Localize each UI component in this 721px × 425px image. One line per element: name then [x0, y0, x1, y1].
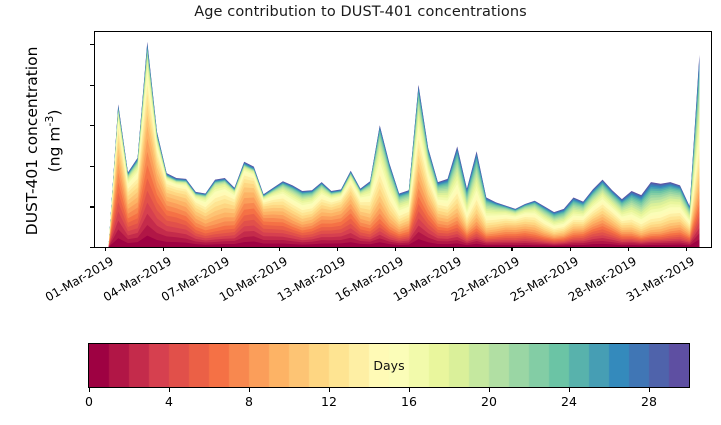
colorbar-tick-mark: [89, 388, 90, 392]
colorbar-tick-mark: [649, 388, 650, 392]
colorbar-tick-label: 20: [481, 394, 497, 409]
colorbar-tick-label: 4: [165, 394, 173, 409]
y-axis-label-line3: ): [45, 110, 63, 116]
colorbar-tick-label: 0: [85, 394, 93, 409]
colorbar-tick-mark: [169, 388, 170, 392]
chart-title: Age contribution to DUST-401 concentrati…: [0, 4, 721, 20]
y-axis-label-line2: (ng m: [45, 127, 63, 173]
colorbar-gradient: [88, 343, 690, 388]
plot-area[interactable]: [94, 31, 712, 248]
colorbar-tick-mark: [489, 388, 490, 392]
colorbar-tick-label: 24: [561, 394, 577, 409]
stacked-area-series: [95, 32, 711, 247]
colorbar-tick-mark: [409, 388, 410, 392]
colorbar-tick-mark: [569, 388, 570, 392]
colorbar-tick-mark: [329, 388, 330, 392]
figure: Age contribution to DUST-401 concentrati…: [0, 0, 721, 425]
colorbar-tick-label: 28: [641, 394, 657, 409]
colorbar-tick-label: 12: [321, 394, 337, 409]
colorbar-canvas: [89, 344, 689, 387]
y-axis-label-exponent: -3: [43, 116, 56, 127]
colorbar-tick-mark: [249, 388, 250, 392]
y-axis-label: DUST-401 concentration (ng m-3): [23, 11, 65, 271]
colorbar[interactable]: Days: [88, 343, 690, 388]
y-axis-label-line1: DUST-401 concentration: [23, 47, 41, 236]
colorbar-tick-label: 8: [245, 394, 253, 409]
colorbar-tick-label: 16: [401, 394, 417, 409]
